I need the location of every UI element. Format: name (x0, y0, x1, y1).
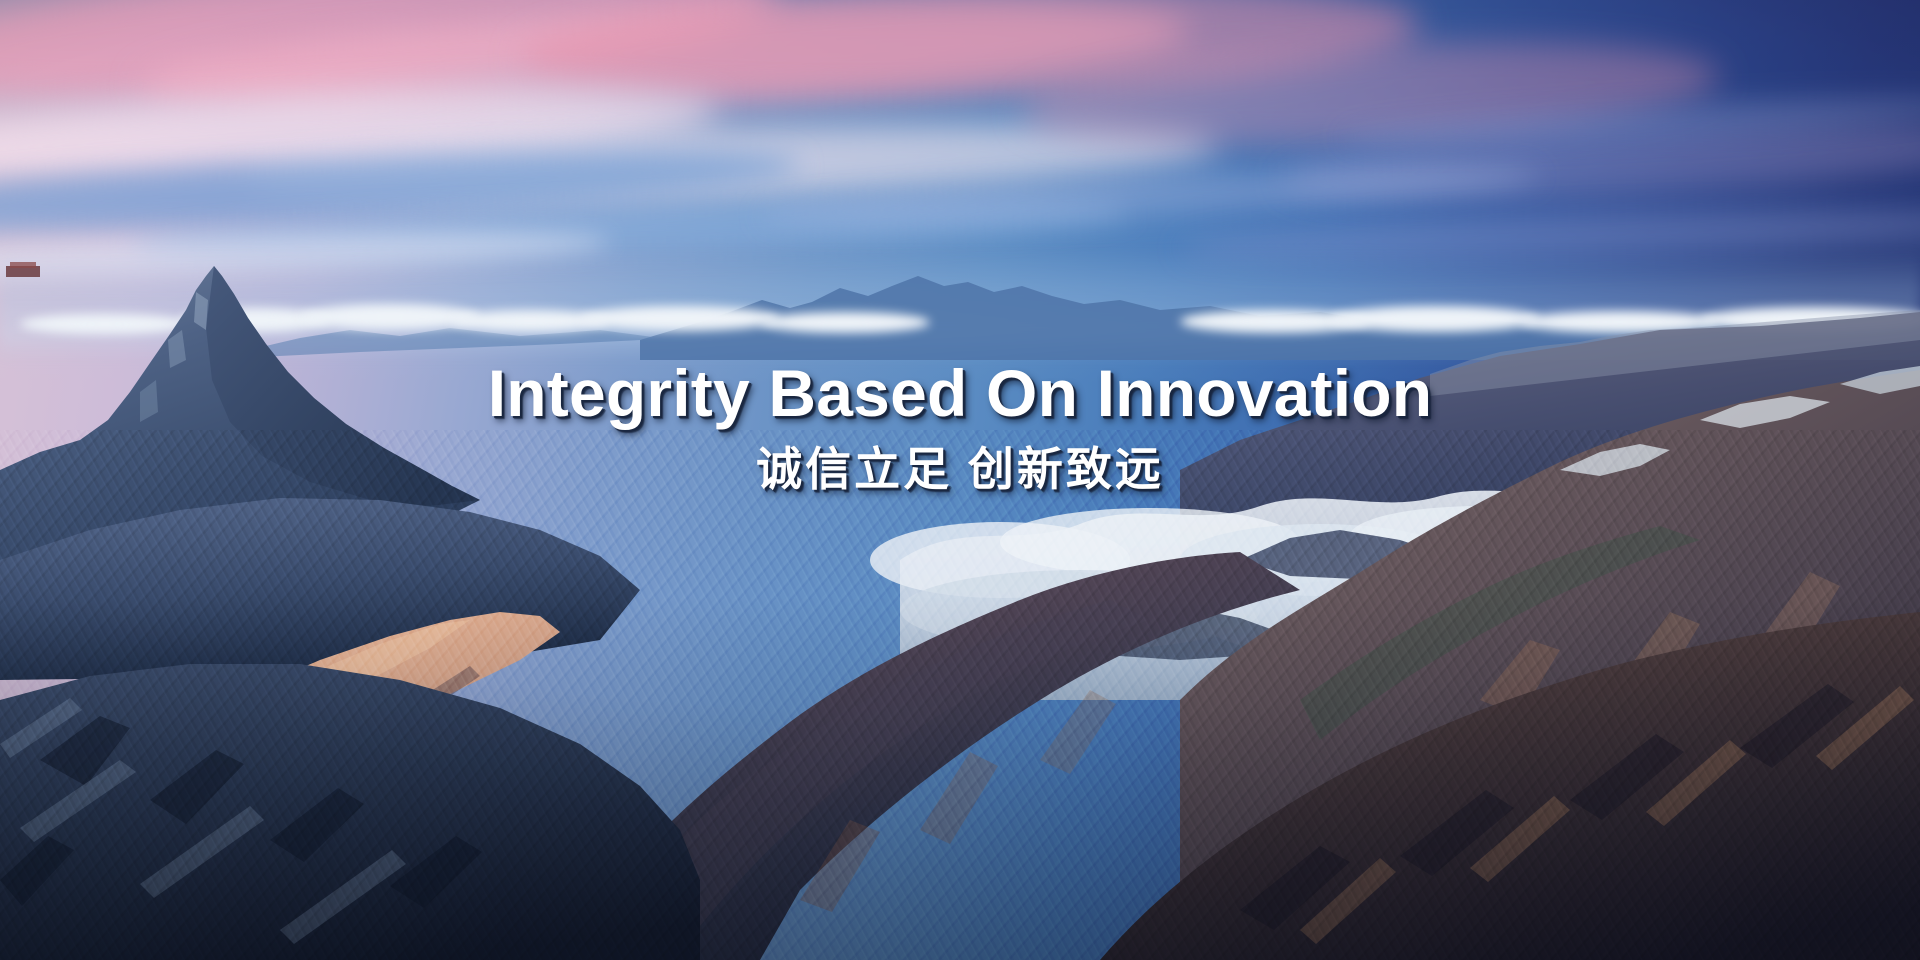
hero-subheadline: 诚信立足 创新致远 (0, 444, 1920, 495)
hero-headline: Integrity Based On Innovation (0, 360, 1920, 426)
hero-text-block: Integrity Based On Innovation 诚信立足 创新致远 (0, 360, 1920, 495)
hero-banner: Integrity Based On Innovation 诚信立足 创新致远 (0, 0, 1920, 960)
rock-texture-overlay (0, 430, 1920, 960)
